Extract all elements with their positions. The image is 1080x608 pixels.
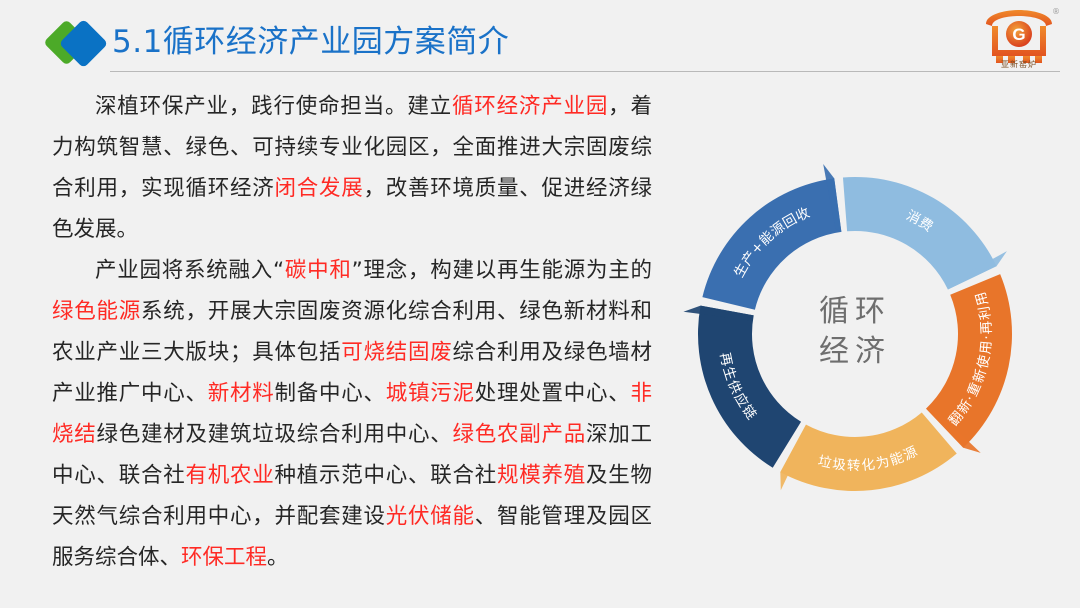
text-run: ”理念，构建以再生能源为主的 xyxy=(352,258,652,283)
text-run: 绿色建材及建筑垃圾综合利用中心、 xyxy=(97,422,453,447)
donut-segment[interactable] xyxy=(698,306,801,468)
circular-economy-donut-chart: 生产+能源回收消费翻新·重新使用·再利用垃圾转化为能源再生供应链 循环 经济 xyxy=(665,152,1045,512)
text-run: 种植示范中心、联合社 xyxy=(274,463,496,488)
title-divider xyxy=(110,71,1060,72)
highlighted-run: 绿色能源 xyxy=(52,299,141,324)
highlighted-run: 循环经济产业园 xyxy=(452,94,608,119)
page-title: 5.1循环经济产业园方案简介 xyxy=(112,16,509,61)
donut-segments xyxy=(683,164,1012,491)
donut-segment[interactable] xyxy=(780,412,956,491)
text-run: 制备中心、 xyxy=(274,381,385,406)
highlighted-run: 光伏储能 xyxy=(386,504,475,529)
text-run: 。 xyxy=(267,545,289,570)
highlighted-run: 新材料 xyxy=(208,381,275,406)
highlighted-run: 规模养殖 xyxy=(497,463,586,488)
registered-mark: ® xyxy=(1052,7,1060,16)
text-run: 产业园将系统融入“ xyxy=(95,258,284,283)
paragraph-1: 深植环保产业，践行使命担当。建立循环经济产业园，着力构筑智慧、绿色、可持续专业化… xyxy=(52,86,652,250)
highlighted-run: 可烧结固废 xyxy=(341,340,452,365)
highlighted-run: 城镇污泥 xyxy=(386,381,475,406)
slide-root: 5.1循环经济产业园方案简介 xyxy=(0,0,1080,608)
highlighted-run: 闭合发展 xyxy=(274,176,363,201)
paragraph-2: 产业园将系统融入“碳中和”理念，构建以再生能源为主的绿色能源系统，开展大宗固废资… xyxy=(52,250,652,578)
corporate-logo-letter: G xyxy=(1012,25,1025,44)
corporate-logo-name: 亚新窑炉 xyxy=(976,59,1062,70)
highlighted-run: 绿色农副产品 xyxy=(452,422,586,447)
text-run: 深植环保产业，践行使命担当。建立 xyxy=(95,94,452,119)
highlighted-run: 碳中和 xyxy=(284,258,352,283)
text-run: 处理处置中心、 xyxy=(475,381,631,406)
highlighted-run: 有机农业 xyxy=(185,463,274,488)
body-text-block: 深植环保产业，践行使命担当。建立循环经济产业园，着力构筑智慧、绿色、可持续专业化… xyxy=(52,86,652,578)
corporate-logo: G ® 亚新窑炉 xyxy=(976,6,1062,70)
highlighted-run: 环保工程 xyxy=(181,545,267,570)
slide-header: 5.1循环经济产业园方案简介 xyxy=(0,0,1080,80)
brand-diamond-logo-icon xyxy=(45,20,120,66)
donut-svg: 生产+能源回收消费翻新·重新使用·再利用垃圾转化为能源再生供应链 xyxy=(665,152,1045,512)
